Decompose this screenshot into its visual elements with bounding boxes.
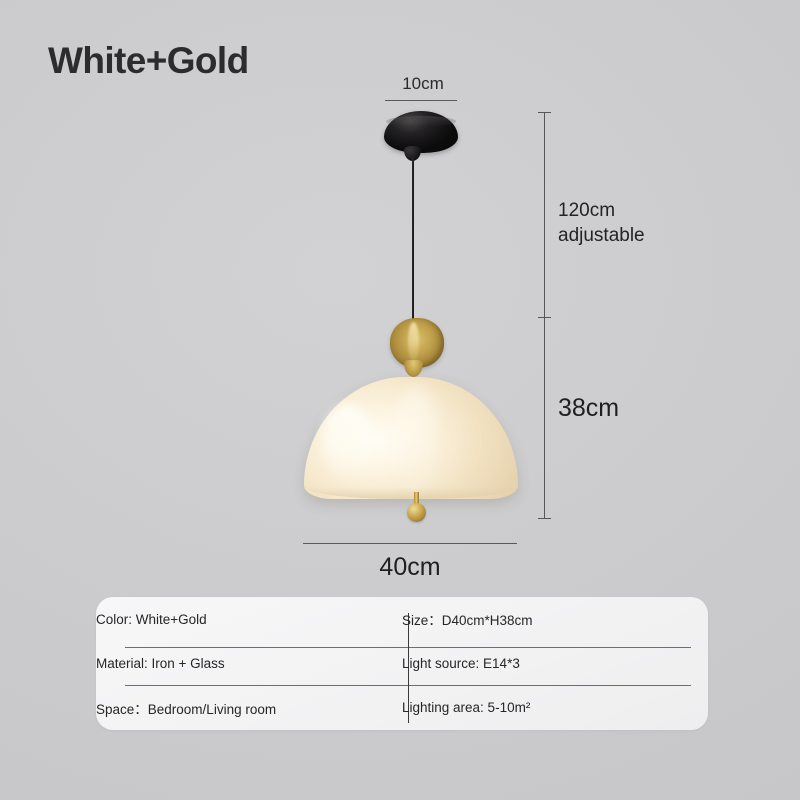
finial-ball [407, 503, 426, 522]
spec-material: Material: Iron + Glass [96, 641, 402, 685]
dimension-tick-middle [538, 317, 551, 318]
dimension-label-canopy-width: 10cm [383, 74, 463, 94]
brass-shade-cap [404, 360, 423, 377]
product-spec-image: White+Gold 10cm 120cm adjustable 38cm 40… [0, 0, 800, 800]
spec-lighting-area: Lighting area: 5-10m² [402, 686, 708, 730]
dimension-tick-bottom [538, 518, 551, 519]
spec-size: Size：D40cm*H38cm [402, 597, 708, 641]
dimension-label-shade-height: 38cm [558, 394, 619, 423]
page-title: White+Gold [48, 40, 249, 82]
table-row: Space：Bedroom/Living room Lighting area:… [96, 686, 708, 730]
ceiling-canopy-rim [386, 116, 456, 127]
spec-space: Space：Bedroom/Living room [96, 686, 402, 730]
table-row: Material: Iron + Glass Light source: E14… [96, 641, 708, 685]
shade-highlight-center [392, 388, 438, 494]
dimension-label-cord-length-value: 120cm [558, 198, 645, 223]
dimension-rule-canopy-width [385, 100, 457, 101]
shade-highlight-left [322, 404, 374, 478]
specification-card: Color: White+Gold Size：D40cm*H38cm Mater… [96, 597, 708, 730]
dimension-line-vertical [544, 112, 545, 518]
table-row: Color: White+Gold Size：D40cm*H38cm [96, 597, 708, 641]
dimension-label-cord-length: 120cm adjustable [558, 198, 645, 248]
brass-ball-highlight [408, 322, 419, 362]
dimension-label-cord-length-note: adjustable [558, 223, 645, 248]
spec-color: Color: White+Gold [96, 597, 402, 641]
dimension-tick-top [538, 112, 551, 113]
dimension-rule-shade-diameter [303, 543, 517, 544]
spec-light-source: Light source: E14*3 [402, 641, 708, 685]
specification-table: Color: White+Gold Size：D40cm*H38cm Mater… [96, 597, 708, 730]
hanging-cord [412, 156, 414, 328]
dimension-label-shade-diameter: 40cm [303, 553, 517, 582]
